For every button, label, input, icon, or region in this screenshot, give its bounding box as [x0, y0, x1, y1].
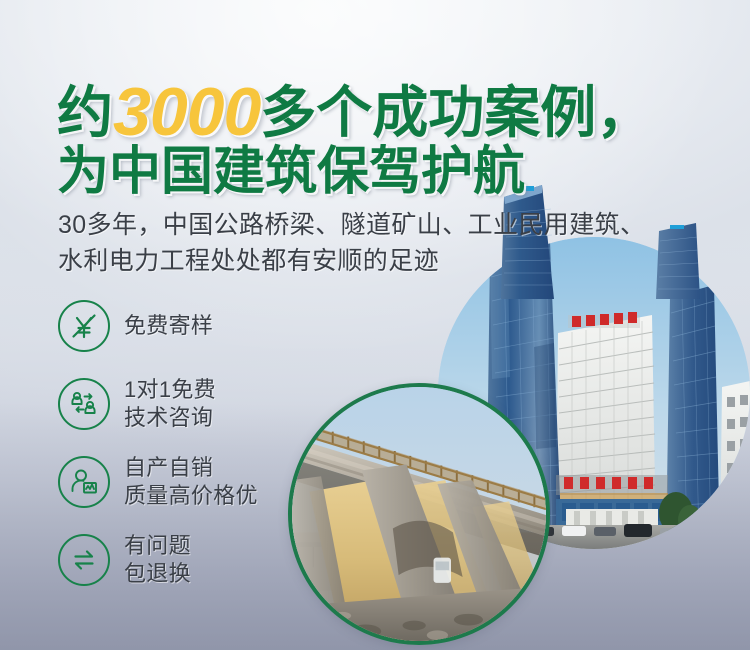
headline-number: 3000 [113, 74, 260, 150]
headline: 约3000多个成功案例， 为中国建筑保驾护航 [57, 78, 717, 204]
feature-line: 有问题 [124, 532, 191, 560]
headline-prefix: 约 [57, 81, 113, 144]
headline-suffix: 多个成功案例， [260, 81, 652, 144]
feature-text-free-sample: 免费寄样 [124, 312, 213, 340]
headline-line-1: 约3000多个成功案例， [57, 78, 717, 140]
promo-banner: 约3000多个成功案例， 为中国建筑保驾护航 30多年，中国公路桥梁、隧道矿山、… [0, 0, 750, 650]
bridge-photo-art [292, 387, 546, 641]
bridge-photo [288, 383, 550, 645]
feature-line: 免费寄样 [124, 312, 213, 340]
return-exchange-icon [58, 534, 110, 586]
subtitle: 30多年，中国公路桥梁、隧道矿山、工业民用建筑、 水利电力工程处处都有安顺的足迹 [58, 208, 645, 279]
one-on-one-consult-icon [58, 378, 110, 430]
feature-line: 技术咨询 [124, 404, 216, 432]
feature-item-quality[interactable]: 自产自销 质量高价格优 [58, 451, 318, 513]
free-sample-icon [58, 300, 110, 352]
feature-line: 自产自销 [124, 454, 258, 482]
feature-line: 包退换 [124, 560, 191, 588]
feature-line: 1对1免费 [124, 376, 216, 404]
subtitle-line-1: 30多年，中国公路桥梁、隧道矿山、工业民用建筑、 [58, 208, 645, 244]
self-produced-quality-icon [58, 456, 110, 508]
feature-text-return: 有问题 包退换 [124, 532, 191, 588]
feature-text-quality: 自产自销 质量高价格优 [124, 454, 258, 510]
headline-line-2-text: 为中国建筑保驾护航 [57, 143, 525, 201]
feature-item-free-sample[interactable]: 免费寄样 [58, 295, 318, 357]
feature-line: 质量高价格优 [124, 482, 258, 510]
feature-item-consult[interactable]: 1对1免费 技术咨询 [58, 373, 318, 435]
feature-text-consult: 1对1免费 技术咨询 [124, 376, 216, 432]
feature-list: 免费寄样 1对1免费 技术咨询 [58, 295, 318, 607]
headline-line-2: 为中国建筑保驾护航 [57, 146, 717, 204]
subtitle-line-2: 水利电力工程处处都有安顺的足迹 [58, 244, 645, 280]
feature-item-return[interactable]: 有问题 包退换 [58, 529, 318, 591]
